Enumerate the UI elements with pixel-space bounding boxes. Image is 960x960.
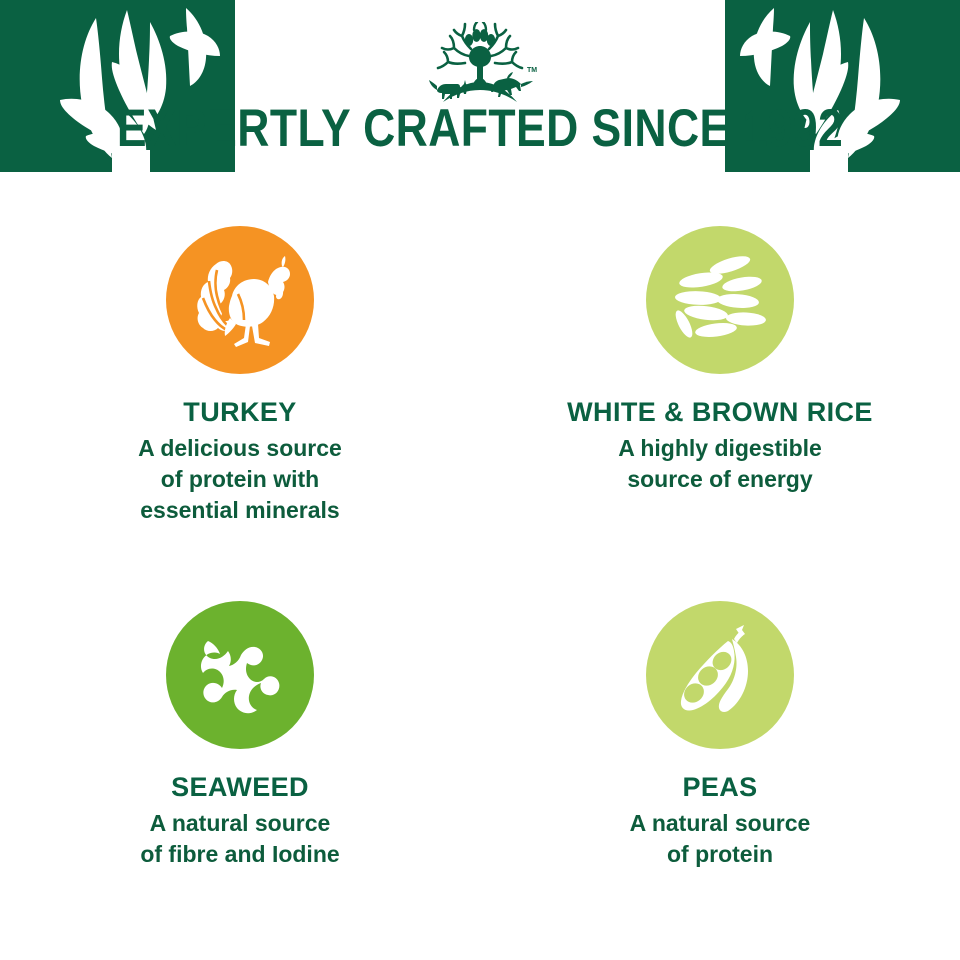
peas-icon-circle <box>646 601 794 749</box>
ingredient-card-turkey: TURKEY A delicious source of protein wit… <box>0 198 480 573</box>
ingredient-card-seaweed: SEAWEED A natural source of fibre and Io… <box>0 573 480 948</box>
desc-line: of protein <box>630 839 811 870</box>
ingredient-title: SEAWEED <box>171 771 309 803</box>
rice-grains-icon <box>668 251 772 349</box>
desc-line: essential minerals <box>138 495 342 526</box>
ingredients-infographic: TM EXPERTLY CRAFTED SINCE 1992 <box>0 0 960 960</box>
ingredient-description: A highly digestible source of energy <box>618 433 822 495</box>
ingredient-card-rice: WHITE & BROWN RICE A highly digestible s… <box>480 198 960 573</box>
desc-line: A highly digestible <box>618 433 822 464</box>
turkey-icon-circle <box>166 226 314 374</box>
pea-pod-icon <box>670 623 770 727</box>
ingredient-description: A delicious source of protein with essen… <box>138 433 342 526</box>
ingredient-title: WHITE & BROWN RICE <box>567 396 873 428</box>
trademark-mark: TM <box>527 67 537 74</box>
ingredient-grid: TURKEY A delicious source of protein wit… <box>0 198 960 948</box>
desc-line: of protein with <box>138 464 342 495</box>
seaweed-icon <box>188 625 292 725</box>
tree-paw-logo: TM <box>421 22 539 108</box>
ingredient-title: TURKEY <box>183 396 296 428</box>
ingredient-title: PEAS <box>682 771 757 803</box>
ingredient-card-peas: PEAS A natural source of protein <box>480 573 960 948</box>
seaweed-icon-circle <box>166 601 314 749</box>
ingredient-description: A natural source of fibre and Iodine <box>140 808 339 870</box>
header-band: TM EXPERTLY CRAFTED SINCE 1992 <box>0 0 960 172</box>
desc-line: of fibre and Iodine <box>140 839 339 870</box>
turkey-icon <box>186 248 294 352</box>
desc-line: A natural source <box>140 808 339 839</box>
page-title: EXPERTLY CRAFTED SINCE 1992 <box>77 100 883 158</box>
rice-icon-circle <box>646 226 794 374</box>
ingredient-description: A natural source of protein <box>630 808 811 870</box>
desc-line: A natural source <box>630 808 811 839</box>
desc-line: source of energy <box>618 464 822 495</box>
desc-line: A delicious source <box>138 433 342 464</box>
